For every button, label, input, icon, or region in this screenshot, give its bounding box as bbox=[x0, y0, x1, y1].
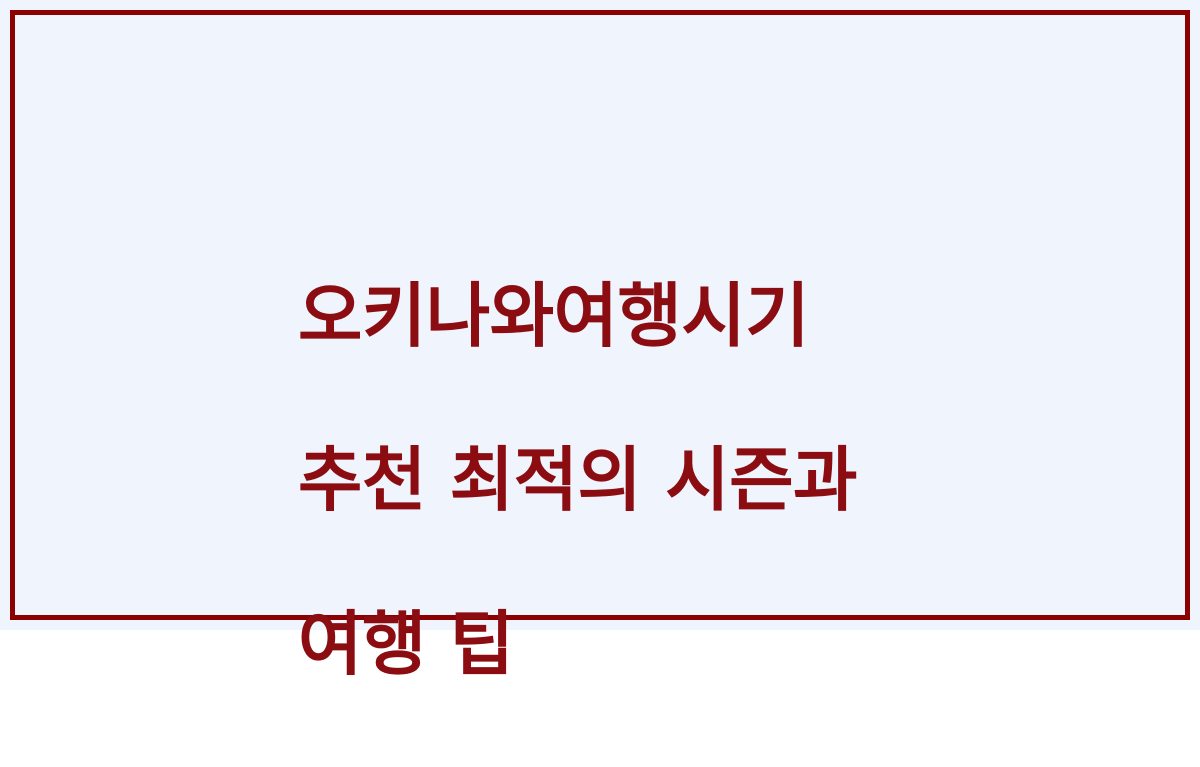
title-line-3: 여행 팁 bbox=[298, 603, 918, 685]
title-line-2: 추천 최적의 시즌과 bbox=[298, 439, 918, 521]
title-line-1: 오키나와여행시기 bbox=[298, 275, 918, 357]
headline-block: 오키나와여행시기 추천 최적의 시즌과 여행 팁 bbox=[298, 193, 918, 767]
thumbnail-canvas: 오키나와여행시기 추천 최적의 시즌과 여행 팁 bbox=[0, 0, 1200, 630]
decorative-border-frame: 오키나와여행시기 추천 최적의 시즌과 여행 팁 bbox=[10, 10, 1190, 620]
page-title: 오키나와여행시기 추천 최적의 시즌과 여행 팁 bbox=[298, 193, 918, 767]
